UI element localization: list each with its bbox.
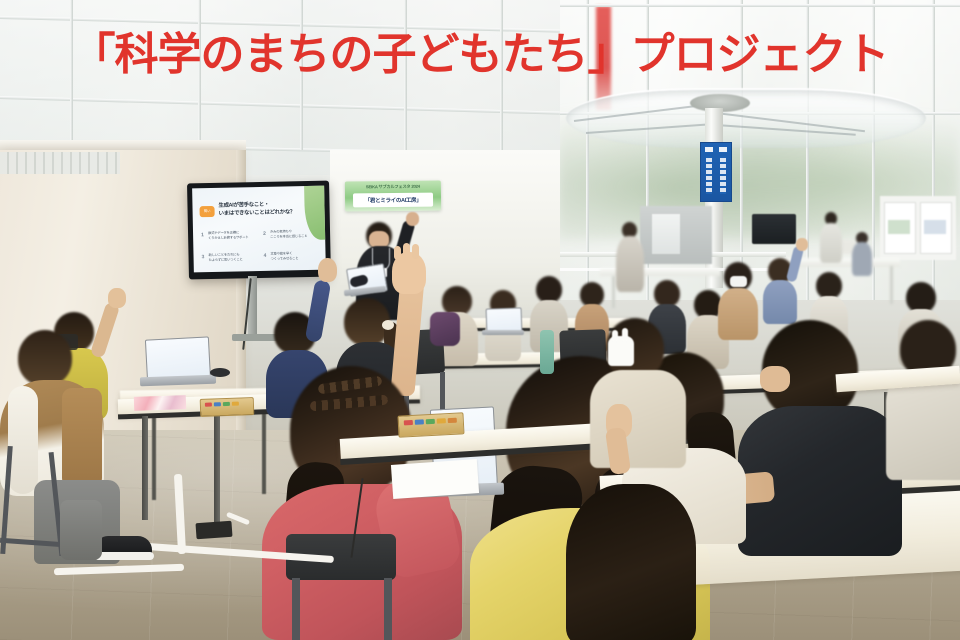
- headphones: [210, 368, 230, 377]
- table-leg: [214, 414, 220, 524]
- water-bottle: [540, 330, 554, 374]
- slide-item-num: 4: [263, 253, 266, 259]
- background-monitor: [752, 214, 796, 244]
- slide-item-text: 新しいことをだれにも たよらずに思いつくこと: [208, 252, 254, 262]
- wayfinding-sign: [700, 142, 732, 202]
- slide-badge: 問い: [199, 206, 214, 217]
- slide-item-num: 2: [263, 231, 266, 237]
- glass-canopy: [566, 88, 926, 148]
- chair-leg: [292, 578, 300, 640]
- slide-badge-label: 問い: [199, 206, 214, 217]
- wall-mounted-tv: 問い 生成AIが苦手なこと・ いまはできないことはどれかな？ 1 数式やデータを…: [187, 181, 331, 280]
- worksheet: [391, 459, 479, 499]
- event-banner: SEIKA サブカルフェスタ 2024 「君とミライのAI工房」: [345, 180, 441, 211]
- power-strip: [195, 521, 232, 539]
- raised-hand: [318, 258, 337, 282]
- slide-item-text: 文章や絵を早く つくってみせること: [270, 251, 316, 261]
- slide-item-num: 3: [201, 254, 204, 260]
- poster-board: [880, 196, 956, 260]
- tv-stand-base: [232, 334, 278, 341]
- chair-leg: [384, 578, 392, 640]
- slide-title-line2: いまはできないことはどれかな？: [219, 208, 311, 218]
- banner-main-title: 「君とミライのAI工房」: [353, 193, 433, 208]
- slide-title: 生成AIが苦手なこと・ いまはできないことはどれかな？: [218, 200, 310, 218]
- slide-item-num: 1: [201, 232, 204, 238]
- shoe-sole: [94, 552, 154, 560]
- slide-item-text: きみの気持ちや こころを本当に感じること: [270, 229, 316, 239]
- table-leg: [152, 404, 156, 500]
- far-table-leg: [890, 266, 893, 304]
- banner-supertitle: SEIKA サブカルフェスタ 2024: [345, 183, 441, 190]
- handout: [134, 395, 186, 411]
- table-leg: [142, 416, 148, 520]
- event-photo: 問い 生成AIが苦手なこと・ いまはできないことはどれかな？ 1 数式やデータを…: [0, 0, 960, 640]
- mullion: [556, 4, 960, 7]
- title-overlay: 「科学のまちの子どもたち」プロジェクト: [0, 18, 960, 82]
- table-leg: [262, 402, 266, 494]
- pencil-box: [397, 412, 464, 437]
- pencil-box: [200, 397, 255, 417]
- kiosk-panel: [652, 214, 680, 254]
- slide-item-text: 数式やデータを正確に くりかえし計算するサポート: [208, 230, 254, 240]
- backpack: [430, 312, 460, 346]
- white-glove-prop: [612, 330, 618, 342]
- laptop-base: [482, 330, 524, 335]
- raised-hand: [392, 252, 426, 294]
- ceiling-louvre: [0, 152, 120, 174]
- presentation-slide: 問い 生成AIが苦手なこと・ いまはできないことはどれかな？ 1 数式やデータを…: [192, 186, 326, 273]
- white-glove-prop: [622, 328, 628, 342]
- far-table-leg: [612, 276, 615, 308]
- trouser-leg: [60, 500, 102, 560]
